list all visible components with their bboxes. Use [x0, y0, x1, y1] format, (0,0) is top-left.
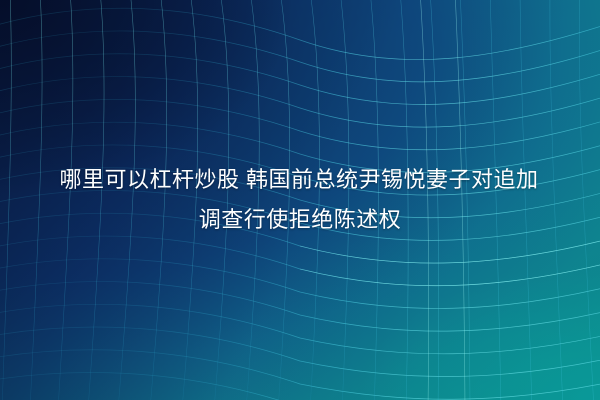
- headline-line-2: 调查行使拒绝陈述权: [199, 200, 402, 240]
- headline-line-1: 哪里可以杠杆炒股 韩国前总统尹锡悦妻子对追加: [59, 160, 540, 200]
- banner-image: 哪里可以杠杆炒股 韩国前总统尹锡悦妻子对追加 调查行使拒绝陈述权: [0, 0, 600, 400]
- headline-block: 哪里可以杠杆炒股 韩国前总统尹锡悦妻子对追加 调查行使拒绝陈述权: [0, 0, 600, 400]
